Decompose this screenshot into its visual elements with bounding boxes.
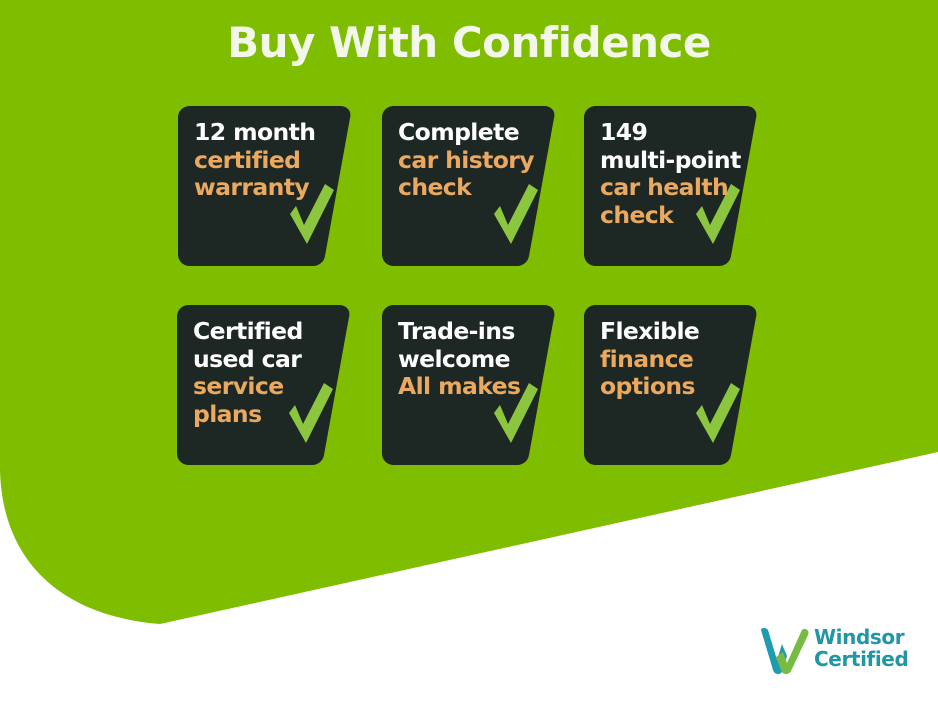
card-text: Complete car history check — [398, 119, 546, 202]
card-line: welcome — [398, 346, 546, 374]
card-line: used car — [193, 346, 341, 374]
benefit-card[interactable]: Certified used car service plans — [177, 305, 351, 465]
card-line: Complete — [398, 119, 546, 147]
benefit-card[interactable]: Flexible finance options — [584, 305, 758, 465]
card-text: Trade-ins welcome All makes — [398, 318, 546, 401]
benefit-card[interactable]: Trade-ins welcome All makes — [382, 305, 556, 465]
card-line: Flexible — [600, 318, 748, 346]
benefit-card[interactable]: Complete car history check — [382, 106, 556, 266]
card-text: 149 multi-point car health check — [600, 119, 748, 230]
logo-line-2: Certified — [814, 648, 930, 670]
benefit-card[interactable]: 149 multi-point car health check — [584, 106, 758, 266]
card-line: finance — [600, 346, 748, 374]
windsor-w-icon — [758, 626, 810, 676]
benefit-card-grid: 12 month certified warranty Complete car… — [0, 0, 938, 704]
slide-canvas: Buy With Confidence 12 month certified w… — [0, 0, 938, 704]
card-line: car history — [398, 147, 546, 175]
brand-logo[interactable]: Windsor Certified — [758, 624, 928, 682]
card-line: certified — [194, 147, 342, 175]
card-text: Flexible finance options — [600, 318, 748, 401]
card-line: warranty — [194, 174, 342, 202]
card-line: car health — [600, 174, 748, 202]
card-line: Certified — [193, 318, 341, 346]
card-line: check — [600, 202, 748, 230]
card-line: 149 — [600, 119, 748, 147]
card-line: 12 month — [194, 119, 342, 147]
card-line: Trade-ins — [398, 318, 546, 346]
benefit-card[interactable]: 12 month certified warranty — [178, 106, 352, 266]
card-line: multi-point — [600, 147, 748, 175]
logo-line-1: Windsor — [814, 626, 930, 648]
card-line: All makes — [398, 373, 546, 401]
logo-wordmark: Windsor Certified — [814, 626, 930, 671]
card-line: check — [398, 174, 546, 202]
card-line: plans — [193, 401, 341, 429]
card-text: 12 month certified warranty — [194, 119, 342, 202]
card-line: options — [600, 373, 748, 401]
card-text: Certified used car service plans — [193, 318, 341, 429]
card-line: service — [193, 373, 341, 401]
